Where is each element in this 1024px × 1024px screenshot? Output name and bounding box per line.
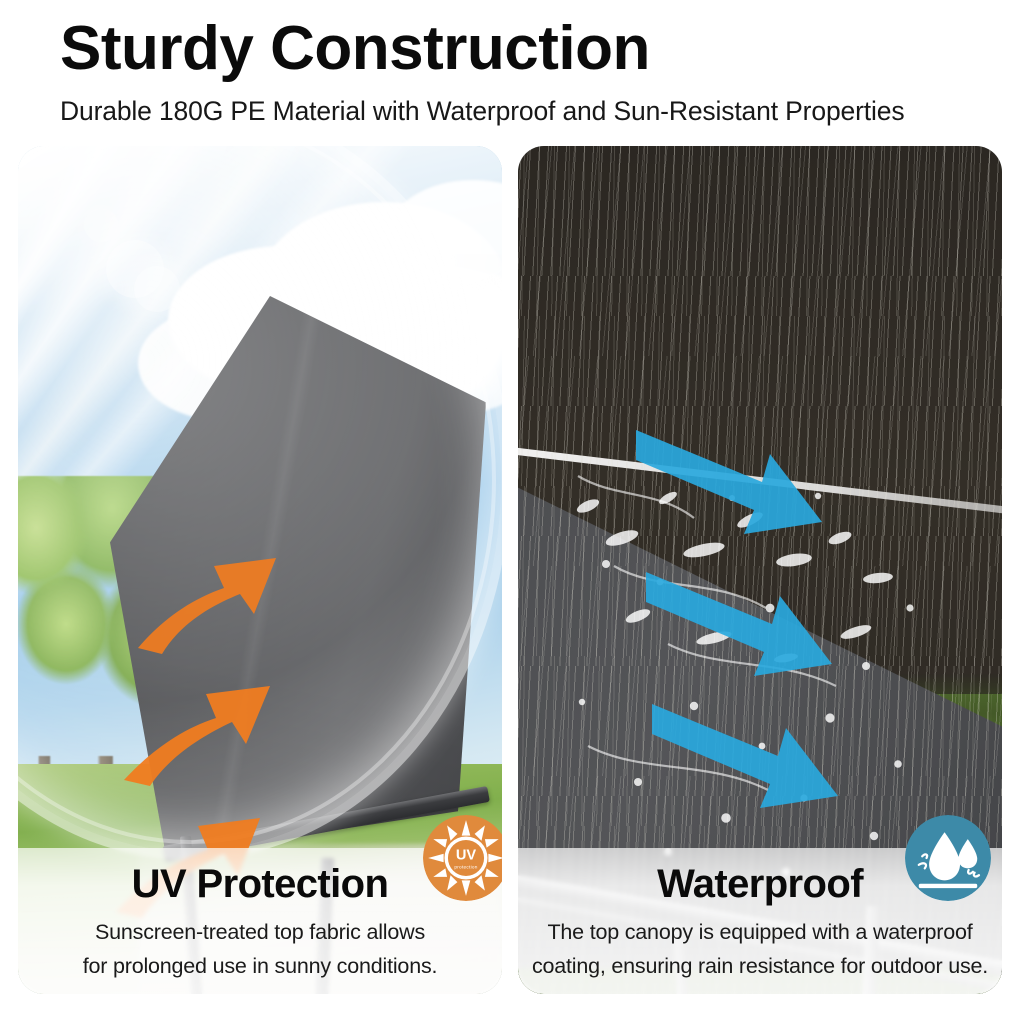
uv-deflection-arrow (136, 536, 280, 656)
waterproof-badge (905, 815, 991, 901)
caption-line: coating, ensuring rain resistance for ou… (518, 954, 1002, 979)
feature-panels: UV Protection Sunscreen-treated top fabr… (0, 146, 1024, 996)
water-runoff-arrow (646, 566, 832, 690)
header: Sturdy Construction Durable 180G PE Mate… (0, 0, 1024, 142)
panel-waterproof: Waterproof The top canopy is equipped wi… (518, 146, 1002, 994)
uv-badge-sublabel: protection (454, 864, 477, 870)
uv-badge-label: UV (456, 848, 477, 864)
water-runoff-arrow (652, 698, 838, 822)
water-runoff-arrow (636, 424, 822, 548)
caption-line: The top canopy is equipped with a waterp… (518, 920, 1002, 945)
uv-protection-badge: UV protection (423, 815, 502, 901)
uv-deflection-arrow (122, 666, 274, 788)
caption-line: Sunscreen-treated top fabric allows (18, 920, 502, 945)
panel-uv-protection: UV Protection Sunscreen-treated top fabr… (18, 146, 502, 994)
product-feature-page: Sturdy Construction Durable 180G PE Mate… (0, 0, 1024, 1024)
page-subtitle: Durable 180G PE Material with Waterproof… (60, 96, 904, 127)
page-title: Sturdy Construction (60, 16, 650, 81)
caption-line: for prolonged use in sunny conditions. (18, 954, 502, 979)
